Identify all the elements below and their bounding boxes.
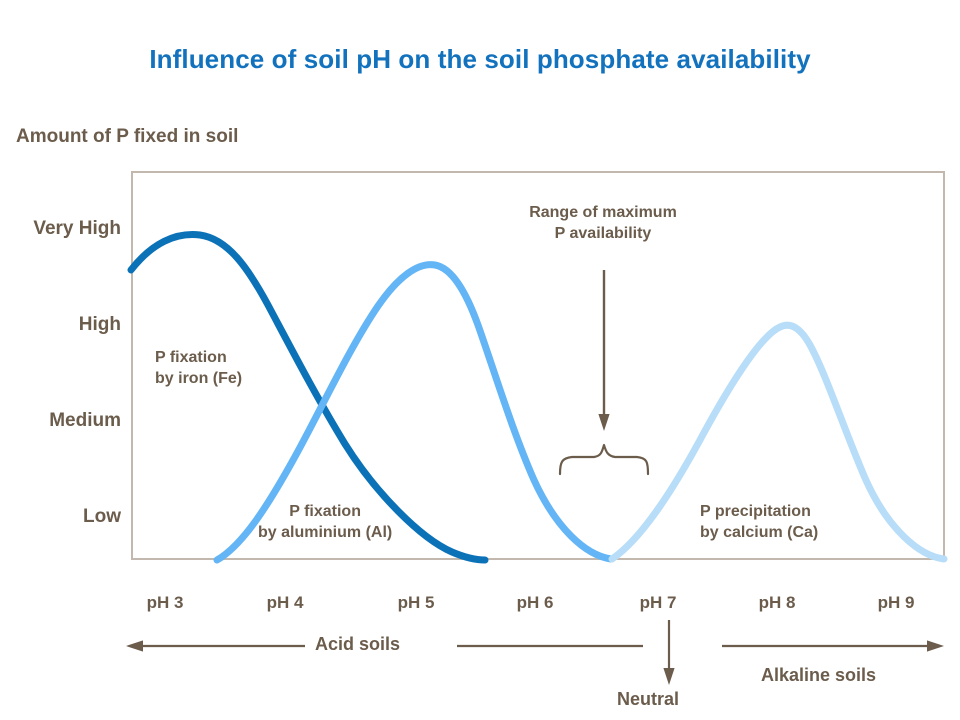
range-annotation-line1: Range of maximum <box>478 202 728 223</box>
y-tick-very-high: Very High <box>33 218 121 240</box>
alkaline-soils-axis-arrow <box>722 640 944 651</box>
series-label-calcium-line2: by calcium (Ca) <box>700 523 818 544</box>
x-tick-ph-4: pH 4 <box>240 593 330 613</box>
y-tick-low: Low <box>83 506 121 528</box>
x-tick-ph-3: pH 3 <box>120 593 210 613</box>
neutral-arrow <box>663 620 674 685</box>
x-tick-ph-9: pH 9 <box>851 593 941 613</box>
series-label-aluminium: P fixation by aluminium (Al) <box>258 502 392 544</box>
series-label-iron-line1: P fixation <box>155 348 242 369</box>
alkaline-soils-label: Alkaline soils <box>761 665 876 686</box>
y-axis-caption: Amount of P fixed in soil <box>16 126 238 148</box>
series-label-calcium: P precipitation by calcium (Ca) <box>700 502 818 544</box>
neutral-label: Neutral <box>617 689 679 710</box>
x-tick-ph-5: pH 5 <box>371 593 461 613</box>
series-label-iron-line2: by iron (Fe) <box>155 369 242 390</box>
x-tick-ph-6: pH 6 <box>490 593 580 613</box>
page-title: Influence of soil pH on the soil phospha… <box>0 44 960 75</box>
series-label-calcium-line1: P precipitation <box>700 502 818 523</box>
range-annotation-line2: P availability <box>478 223 728 244</box>
chart-canvas: Influence of soil pH on the soil phospha… <box>0 0 960 720</box>
acid-soils-label: Acid soils <box>315 634 400 655</box>
y-tick-medium: Medium <box>49 410 121 432</box>
series-label-aluminium-line2: by aluminium (Al) <box>258 523 392 544</box>
series-label-aluminium-line1: P fixation <box>258 502 392 523</box>
series-label-iron: P fixation by iron (Fe) <box>155 348 242 390</box>
y-tick-high: High <box>79 314 121 336</box>
x-tick-ph-8: pH 8 <box>732 593 822 613</box>
x-tick-ph-7: pH 7 <box>613 593 703 613</box>
range-of-max-availability-annotation: Range of maximum P availability <box>478 202 728 244</box>
